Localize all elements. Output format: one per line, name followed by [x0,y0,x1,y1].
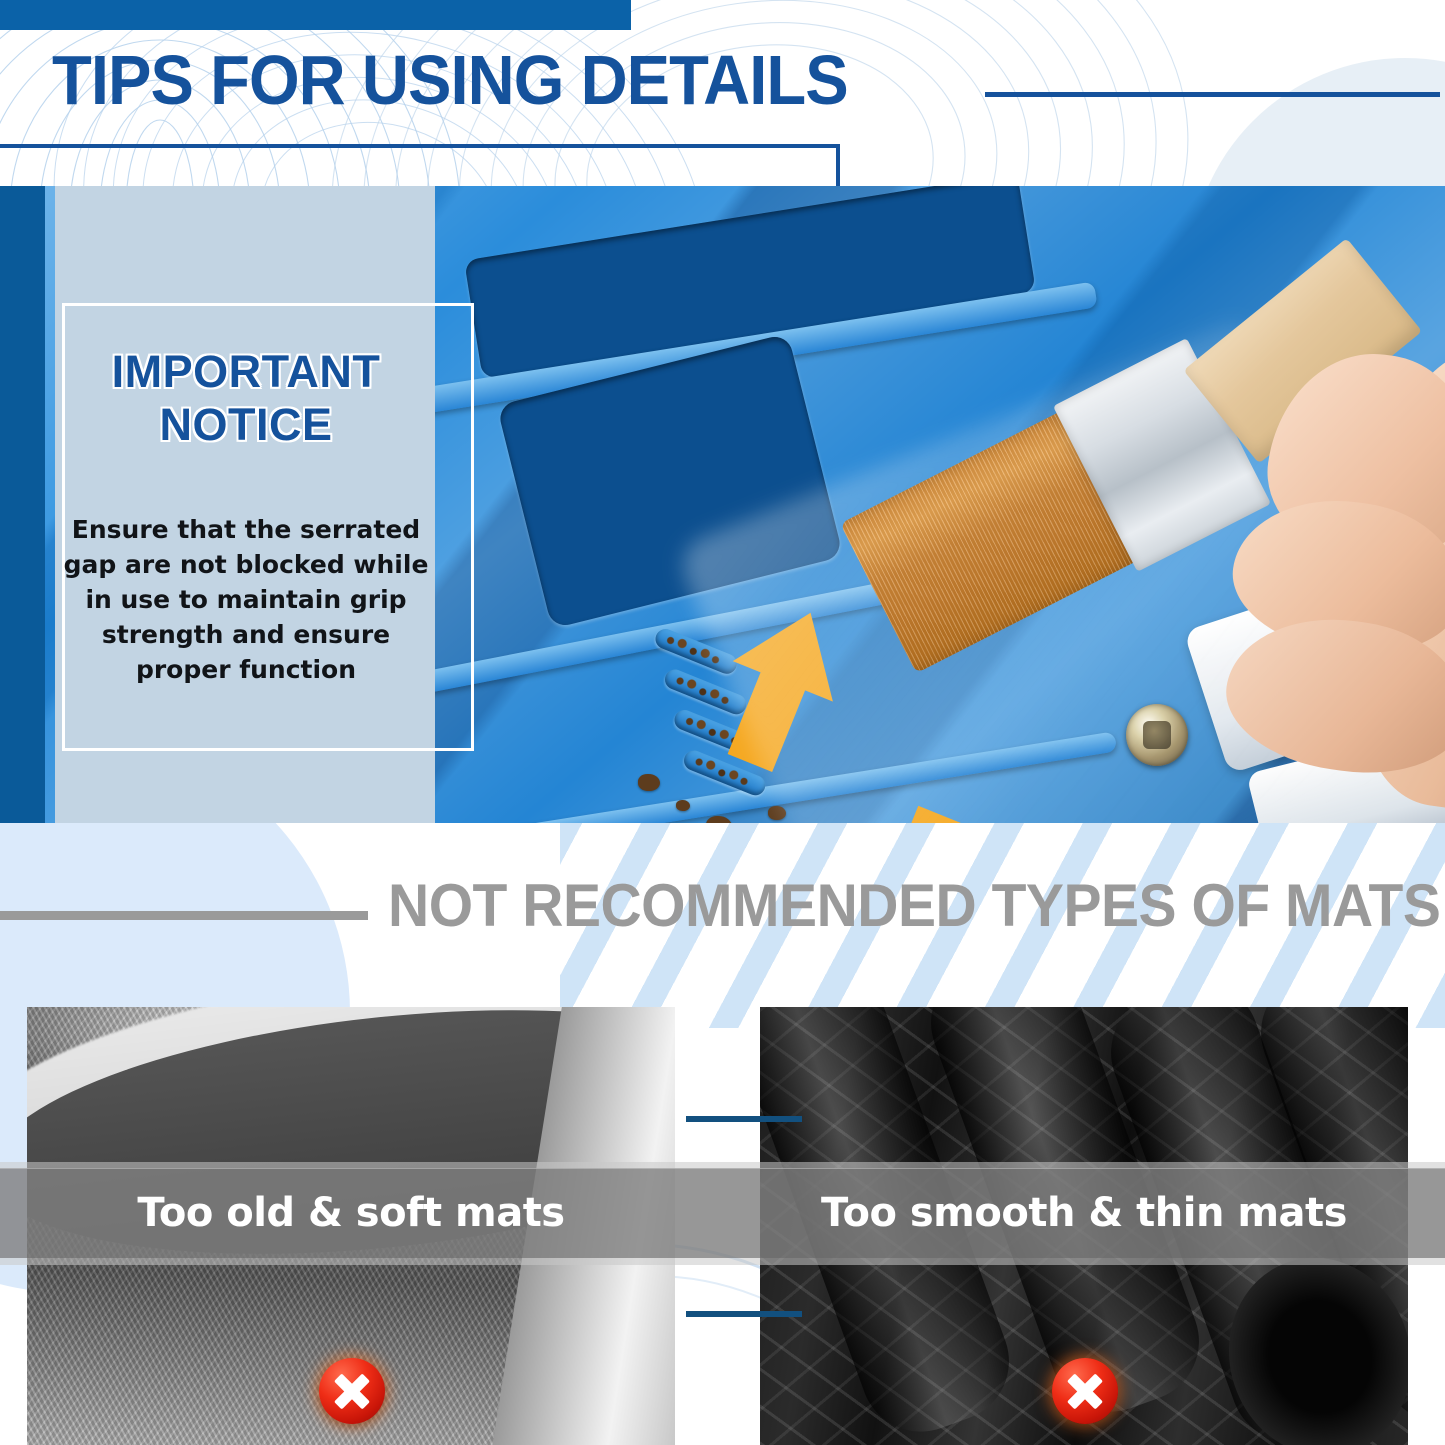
section-rule [0,911,368,920]
gap-connector-line-bottom [686,1311,802,1317]
notice-title-line2: NOTICE [159,399,332,450]
header-rule-bottom [0,144,840,148]
notice-title: IMPORTANT NOTICE [62,345,430,451]
infographic-page: TIPS FOR USING DETAILS [0,0,1445,1445]
x-mark-icon-left [319,1358,385,1424]
mat-label-band-top-edge [0,1162,1445,1169]
header-rule-corner [836,144,840,186]
not-recommended-section: NOT RECOMMENDED TYPES OF MATS [0,823,1445,1445]
dirt-crumb [638,774,660,791]
header-blue-bar [0,0,631,30]
header-section: TIPS FOR USING DETAILS [0,0,1445,186]
dirt-crumb [676,800,690,811]
mat-label-band-bottom-edge [0,1258,1445,1265]
page-title: TIPS FOR USING DETAILS [52,44,848,116]
notice-body-text: Ensure that the serrated gap are not blo… [62,512,430,687]
left-blue-strip [0,186,45,823]
gap-connector-line-top [686,1116,802,1122]
mat-label-smooth-thin: Too smooth & thin mats [760,1186,1408,1240]
notice-title-line1: IMPORTANT [112,346,381,397]
mat-label-old-soft: Too old & soft mats [27,1186,675,1240]
x-mark-icon-right [1052,1358,1118,1424]
header-rule-right [985,92,1440,97]
section-title: NOT RECOMMENDED TYPES OF MATS [388,873,1440,939]
